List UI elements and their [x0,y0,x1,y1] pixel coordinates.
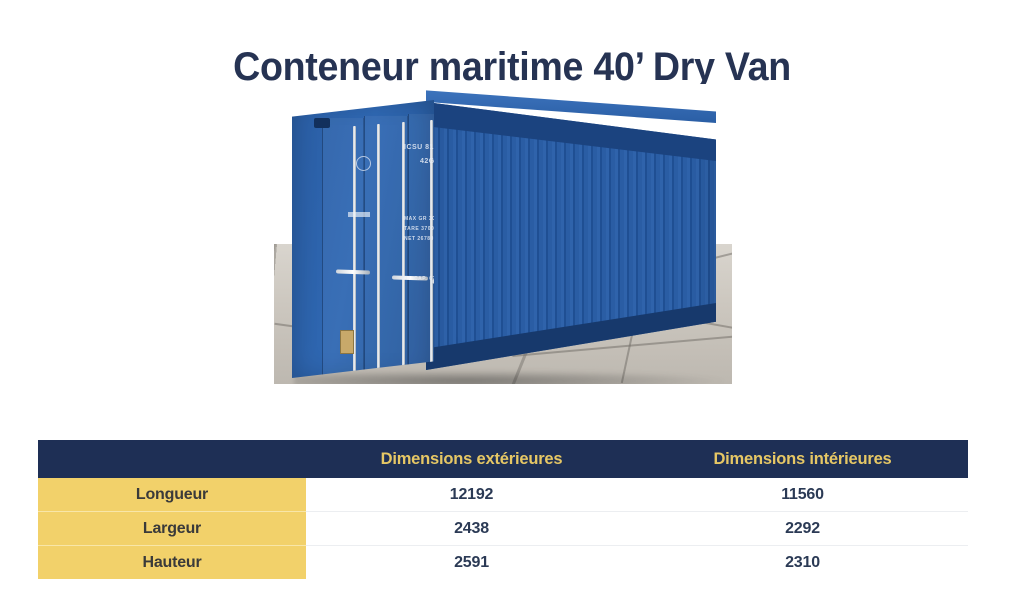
table-header-exterior: Dimensions extérieures [306,440,637,478]
container-photo-canvas: ICSU 817039 9 42G1 MAX GR 30480 KG TARE … [274,84,732,384]
cell-hauteur-exterior: 2591 [306,546,637,580]
door-locking-rod [402,122,405,380]
table-body: Longueur 12192 11560 Largeur 2438 2292 H… [38,478,968,579]
container-door-face: ICSU 817039 9 42G1 MAX GR 30480 KG TARE … [292,100,434,378]
corner-casting [314,118,330,128]
cell-largeur-exterior: 2438 [306,512,637,546]
table-row: Longueur 12192 11560 [38,478,968,512]
cell-longueur-interior: 11560 [637,478,968,512]
row-label-longueur: Longueur [38,478,306,512]
table-header-row: Dimensions extérieures Dimensions intéri… [38,440,968,478]
cell-largeur-interior: 2292 [637,512,968,546]
table-header-corner [38,440,306,478]
container-logo-icon [356,156,371,171]
dimensions-table: Dimensions extérieures Dimensions intéri… [38,440,968,579]
table-row: Hauteur 2591 2310 [38,546,968,580]
csc-plate [340,330,354,354]
row-label-hauteur: Hauteur [38,546,306,580]
container-photo: ICSU 817039 9 42G1 MAX GR 30480 KG TARE … [274,84,732,384]
row-label-largeur: Largeur [38,512,306,546]
table-header: Dimensions extérieures Dimensions intéri… [38,440,968,478]
container-shadow [294,370,724,384]
door-locking-rod [377,124,380,380]
cell-longueur-exterior: 12192 [306,478,637,512]
cell-hauteur-interior: 2310 [637,546,968,580]
table-row: Largeur 2438 2292 [38,512,968,546]
table-header-interior: Dimensions intérieures [637,440,968,478]
container-decal [348,212,370,217]
